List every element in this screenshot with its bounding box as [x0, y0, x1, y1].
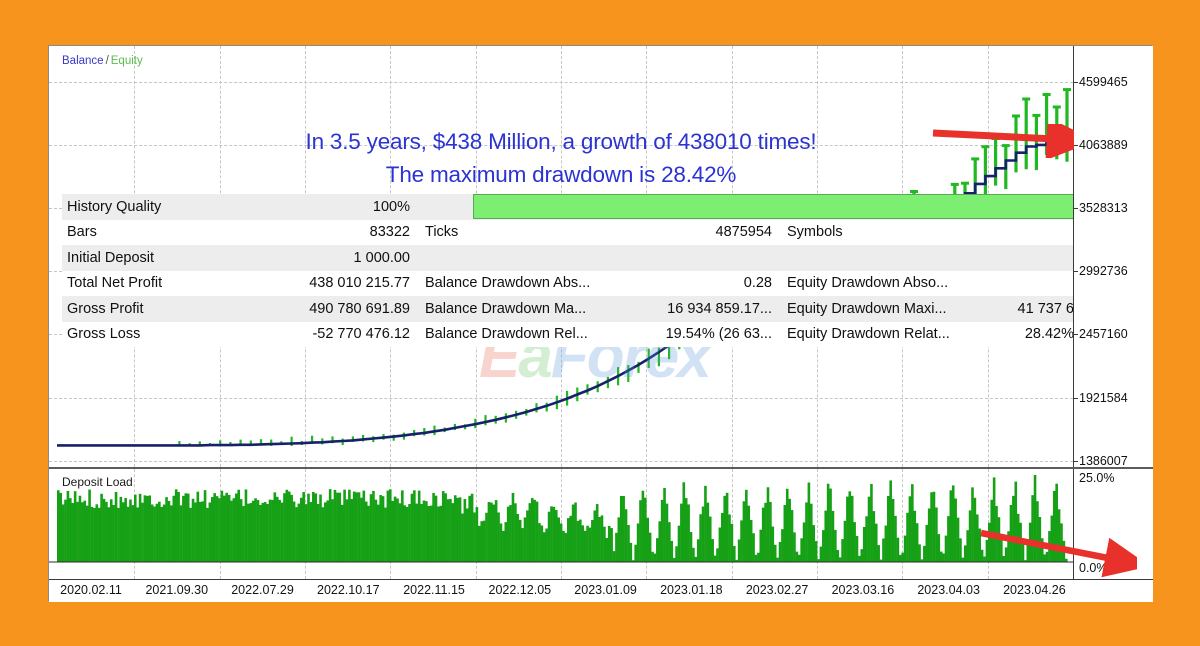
chart-legend: Balance/Equity: [62, 55, 143, 67]
chart-divider: [49, 467, 1153, 469]
date-axis-tick: 2023.02.27: [746, 583, 809, 597]
table-cell-group: Equity Drawdown Relat...28.42%: [782, 322, 1084, 348]
table-row[interactable]: Gross Profit490 780 691.89Balance Drawdo…: [62, 296, 1084, 322]
deposit-axis-top-tick: 25.0%: [1079, 471, 1114, 485]
date-axis-tick: 2022.10.17: [317, 583, 380, 597]
table-cell-group: Equity Drawdown Maxi...41 737 6: [782, 296, 1084, 322]
table-cell-group: Gross Profit490 780 691.89: [62, 296, 420, 322]
table-row[interactable]: Total Net Profit438 010 215.77Balance Dr…: [62, 271, 1084, 297]
table-cell-label: Balance Drawdown Ma...: [420, 301, 667, 317]
legend-separator: /: [106, 55, 109, 67]
table-cell-label: Balance Drawdown Rel...: [420, 326, 666, 342]
deposit-axis-bottom-tick: 0.0%: [1079, 561, 1108, 575]
table-cell-label: Gross Profit: [62, 301, 309, 317]
table-cell-value: 19.54% (26 63...: [666, 326, 782, 342]
table-cell-group: Balance Drawdown Rel...19.54% (26 63...: [420, 322, 782, 348]
table-cell-group: Total Net Profit438 010 215.77: [62, 271, 420, 297]
table-cell-label: History Quality: [62, 199, 373, 215]
legend-equity-label: Equity: [111, 55, 143, 67]
price-axis-tick: 2992736: [1079, 264, 1128, 278]
date-axis-tick: 2021.09.30: [145, 583, 208, 597]
table-cell-label: Equity Drawdown Relat...: [782, 326, 1025, 342]
deposit-load-bars: [57, 475, 1068, 562]
table-cell-group: Gross Loss-52 770 476.12: [62, 322, 420, 348]
date-axis-tick: 2022.07.29: [231, 583, 294, 597]
table-row[interactable]: Initial Deposit1 000.00: [62, 245, 1084, 271]
price-axis-tick: 3528313: [1079, 201, 1128, 215]
date-axis-tick: 2023.04.03: [917, 583, 980, 597]
strategy-tester-report-panel: Balance/Equity In 3.5 years, $438 Millio…: [48, 45, 1152, 601]
date-axis: 2020.02.112021.09.302022.07.292022.10.17…: [49, 579, 1153, 602]
table-row[interactable]: Bars83322Ticks4875954Symbols: [62, 220, 1084, 246]
date-axis-tick: 2023.04.26: [1003, 583, 1066, 597]
table-cell-label: Balance Drawdown Abs...: [420, 275, 744, 291]
table-cell-value: -52 770 476.12: [312, 326, 420, 342]
deposit-load-plot-area: [49, 469, 1073, 579]
table-cell-group: Equity Drawdown Abso...: [782, 271, 1084, 297]
deposit-load-axis: 25.0% 0.0%: [1073, 469, 1153, 579]
table-cell-group: Initial Deposit1 000.00: [62, 245, 420, 271]
table-cell-group: Balance Drawdown Ma...16 934 859.17...: [420, 296, 782, 322]
table-cell-value: 0.28: [744, 275, 782, 291]
table-cell-label: Equity Drawdown Abso...: [782, 275, 1074, 291]
table-cell-label: Symbols: [782, 224, 1074, 240]
equity-chart[interactable]: Balance/Equity In 3.5 years, $438 Millio…: [49, 46, 1153, 467]
price-axis-tick: 4599465: [1079, 75, 1128, 89]
date-axis-tick: 2023.01.09: [574, 583, 637, 597]
table-cell-group: [420, 245, 782, 271]
table-cell-label: Total Net Profit: [62, 275, 309, 291]
deposit-load-label: Deposit Load: [62, 475, 133, 489]
table-cell-value: 4875954: [716, 224, 782, 240]
price-axis-tick: 4063889: [1079, 138, 1128, 152]
date-axis-tick: 2020.02.11: [60, 583, 122, 597]
table-row[interactable]: Gross Loss-52 770 476.12Balance Drawdown…: [62, 322, 1084, 348]
table-cell-value: 83322: [370, 224, 420, 240]
table-cell-group: Bars83322: [62, 220, 420, 246]
date-axis-tick: 2023.01.18: [660, 583, 723, 597]
legend-balance-label: Balance: [62, 55, 104, 67]
table-cell-group: Ticks4875954: [420, 220, 782, 246]
table-cell-group: History Quality100%: [62, 194, 420, 220]
deposit-load-bars-svg: [49, 469, 1073, 579]
history-quality-bar: [473, 194, 1119, 219]
table-cell-value: 438 010 215.77: [309, 275, 420, 291]
date-axis-tick: 2023.03.16: [832, 583, 895, 597]
table-cell-group: Symbols: [782, 220, 1084, 246]
table-cell-value: 100%: [373, 199, 420, 215]
date-axis-tick: 2022.11.15: [403, 583, 465, 597]
equity-price-axis[interactable]: 4599465406388935283132992736245716019215…: [1073, 46, 1153, 467]
table-cell-value: 16 934 859.17...: [667, 301, 782, 317]
table-cell-value: 1 000.00: [354, 250, 420, 266]
table-cell-label: Equity Drawdown Maxi...: [782, 301, 1018, 317]
table-cell-value: 490 780 691.89: [309, 301, 420, 317]
deposit-load-chart[interactable]: Deposit Load 25.0% 0.0%: [49, 469, 1153, 579]
table-cell-group: [782, 245, 1084, 271]
price-axis-tick: 1386007: [1079, 454, 1128, 467]
table-cell-label: Gross Loss: [62, 326, 312, 342]
table-cell-label: Ticks: [420, 224, 716, 240]
price-axis-tick: 2457160: [1079, 327, 1128, 341]
table-cell-label: Bars: [62, 224, 370, 240]
date-axis-tick: 2022.12.05: [489, 583, 552, 597]
table-cell-group: Balance Drawdown Abs...0.28: [420, 271, 782, 297]
price-axis-tick: 1921584: [1079, 391, 1128, 405]
table-cell-label: Initial Deposit: [62, 250, 354, 266]
